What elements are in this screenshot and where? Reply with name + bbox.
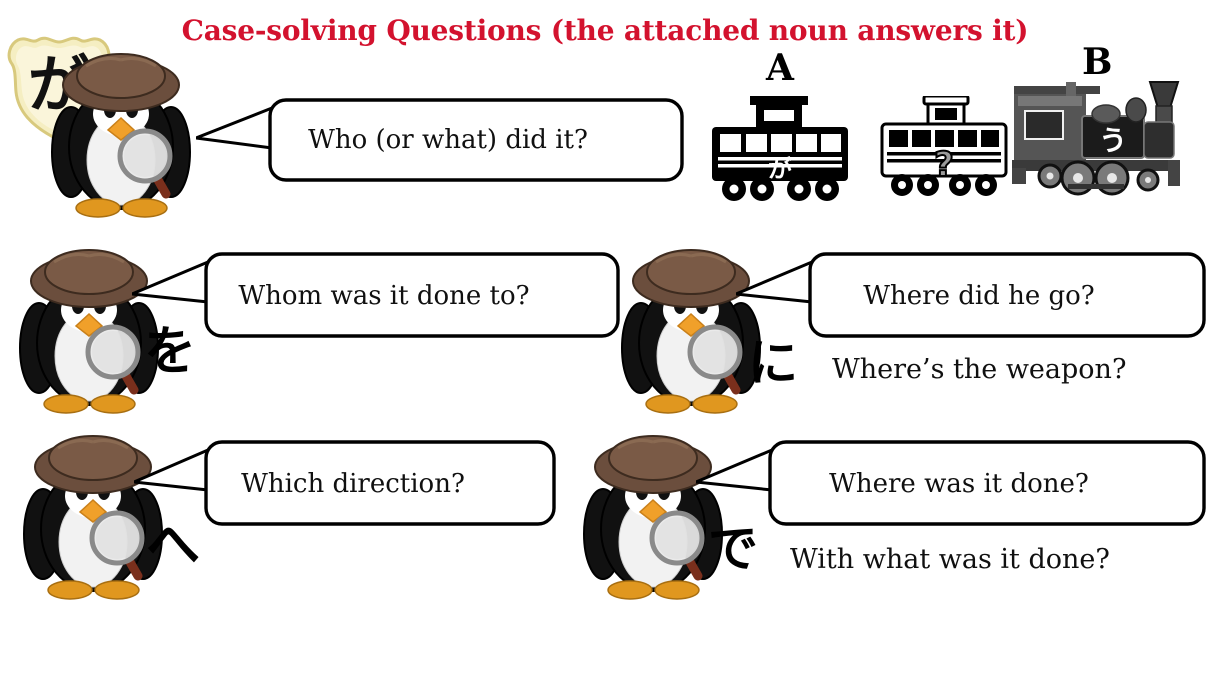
car-a-particle: が <box>768 155 792 183</box>
bubble-text: Who (or what) did it? <box>196 94 686 186</box>
penguin-detective-ga <box>46 52 196 222</box>
bubble-text: Which direction? <box>134 438 558 530</box>
train-car-mystery: ? <box>880 96 1008 200</box>
particle-ni: に <box>748 338 798 388</box>
locomotive-particle: う <box>1099 124 1127 157</box>
page-title: Case-solving Questions (the attached nou… <box>0 14 1210 47</box>
extra-line-de: With what was it done? <box>790 546 1110 573</box>
speech-bubble-ga: Who (or what) did it? <box>196 94 686 186</box>
train-locomotive-b: う B <box>1008 68 1188 204</box>
bubble-text: Where was it done? <box>696 438 1208 530</box>
bubble-text: Whom was it done to? <box>132 250 622 342</box>
speech-bubble-de: Where was it done? <box>696 438 1208 530</box>
bubble-text: Where did he go? <box>736 250 1208 342</box>
train-letter-a: A <box>766 50 794 86</box>
slide-canvas: Case-solving Questions (the attached nou… <box>0 0 1210 678</box>
locomotive-icon: う <box>1008 68 1188 204</box>
particle-de: で <box>708 524 758 574</box>
train-letter-b: B <box>1082 44 1112 80</box>
train-car-a: が A <box>710 96 850 204</box>
speech-bubble-ni: Where did he go? <box>736 250 1208 342</box>
train-car-icon: ? <box>880 96 1008 200</box>
extra-line-ni: Where’s the weapon? <box>832 356 1126 383</box>
train-car-icon: が <box>710 96 850 204</box>
speech-bubble-wo: Whom was it done to? <box>132 250 622 342</box>
speech-bubble-he: Which direction? <box>134 438 558 530</box>
